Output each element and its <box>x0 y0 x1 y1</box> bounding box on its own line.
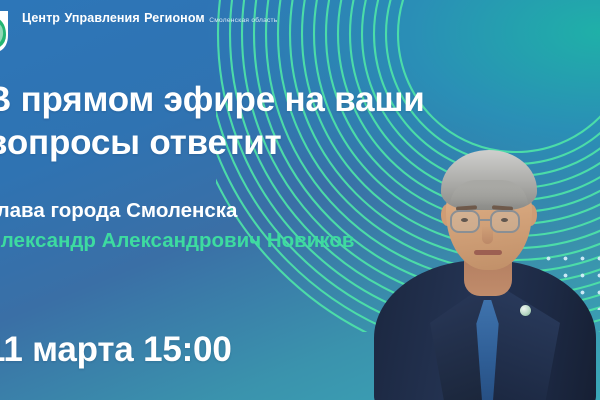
cur-logo: Центр Управления Регионом Смоленская обл… <box>0 8 278 54</box>
logo-line-3: Регионом <box>144 11 205 25</box>
lapel-pin-icon <box>520 305 531 316</box>
shield-leaf-emblem-icon <box>0 8 14 54</box>
live-broadcast-announcement-poster: Центр Управления Регионом Смоленская обл… <box>0 0 600 400</box>
headline: В прямом эфире на ваши вопросы ответит <box>0 78 506 164</box>
speaker-name: Александр Александрович Новиков <box>0 228 355 254</box>
logo-line-2: Управления <box>65 11 140 25</box>
dot-grid-decoration <box>538 248 600 310</box>
headline-line-1: В прямом эфире на ваши <box>0 78 506 121</box>
speaker-role: Глава города Смоленска <box>0 198 237 224</box>
portrait-photo <box>368 132 600 400</box>
headline-line-2: вопросы ответит <box>0 121 506 164</box>
eyeglasses-icon <box>450 210 480 233</box>
logo-region-label: Смоленская область <box>209 17 277 24</box>
broadcast-datetime: 11 марта 15:00 <box>0 328 232 372</box>
logo-line-1: Центр <box>22 11 60 25</box>
